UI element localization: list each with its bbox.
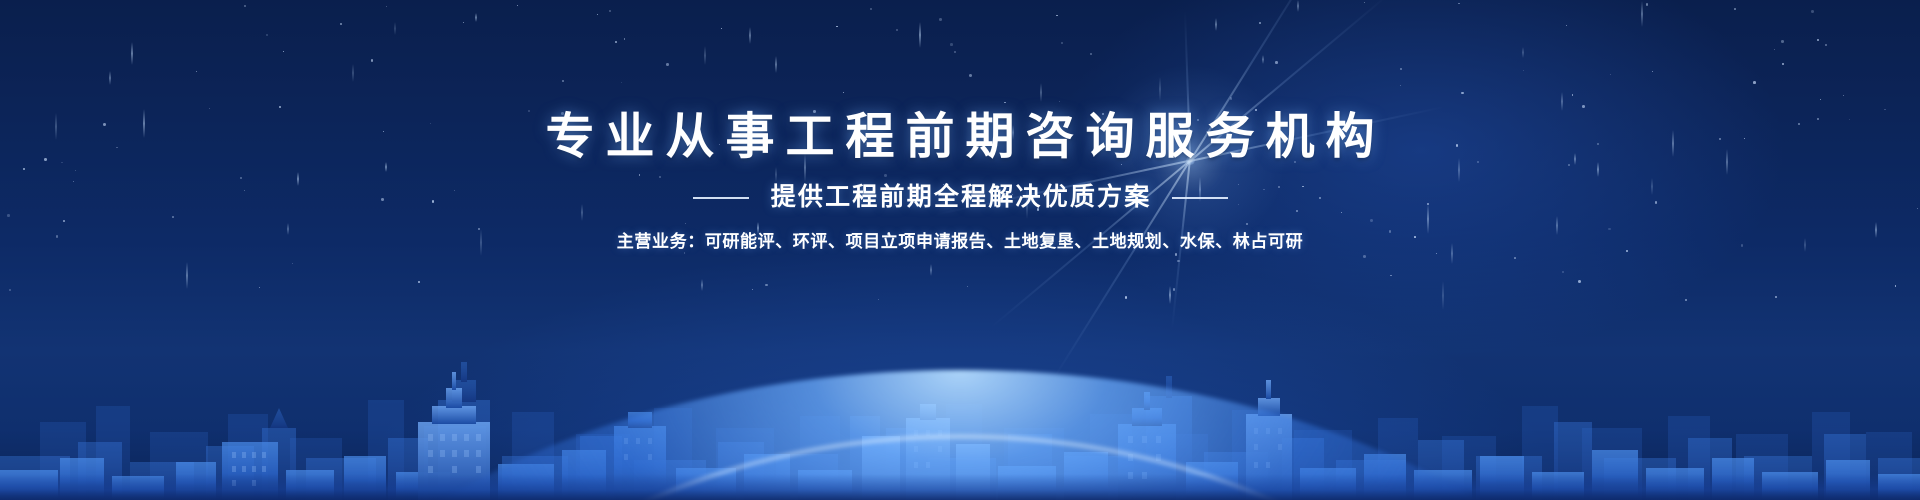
star-dot	[765, 284, 767, 286]
dash-right-icon	[1172, 197, 1228, 199]
star-dot	[418, 281, 420, 283]
star-dot	[684, 252, 685, 253]
star-dot	[1514, 257, 1516, 259]
star-dot	[878, 299, 879, 300]
page-subtitle: 提供工程前期全程解决优质方案	[769, 185, 1152, 210]
particle-streak	[930, 264, 932, 276]
star-dot	[1895, 285, 1896, 286]
star-dot	[1177, 260, 1180, 263]
star-dot	[752, 289, 753, 290]
star-dot	[1578, 280, 1581, 283]
particle-streak	[186, 262, 188, 289]
star-dot	[1626, 250, 1628, 252]
star-dot	[292, 263, 293, 264]
star-dot	[1125, 296, 1128, 299]
star-dot	[9, 289, 11, 291]
star-dot	[967, 286, 969, 288]
subtitle-row: 提供工程前期全程解决优质方案	[0, 185, 1920, 210]
star-dot	[1390, 275, 1392, 277]
dash-left-icon	[693, 197, 749, 199]
particle-streak	[701, 279, 703, 291]
hero-banner: 专业从事工程前期咨询服务机构 提供工程前期全程解决优质方案 主营业务：可研能评、…	[0, 0, 1920, 500]
particle-streak	[1169, 286, 1171, 304]
banner-content: 专业从事工程前期咨询服务机构 提供工程前期全程解决优质方案 主营业务：可研能评、…	[0, 0, 1920, 250]
star-dot	[1173, 288, 1175, 290]
star-dot	[1363, 255, 1366, 258]
star-dot	[1562, 271, 1564, 273]
services-line: 主营业务：可研能评、环评、项目立项申请报告、土地复垦、土地规划、水保、林占可研	[0, 233, 1920, 250]
page-title: 专业从事工程前期咨询服务机构	[0, 0, 1920, 162]
star-dot	[1685, 299, 1687, 301]
star-dot	[259, 287, 260, 288]
star-dot	[1175, 253, 1177, 255]
ground-gradient	[0, 474, 1920, 500]
particle-streak	[1442, 281, 1444, 310]
star-dot	[1436, 253, 1437, 254]
star-dot	[1775, 296, 1777, 298]
